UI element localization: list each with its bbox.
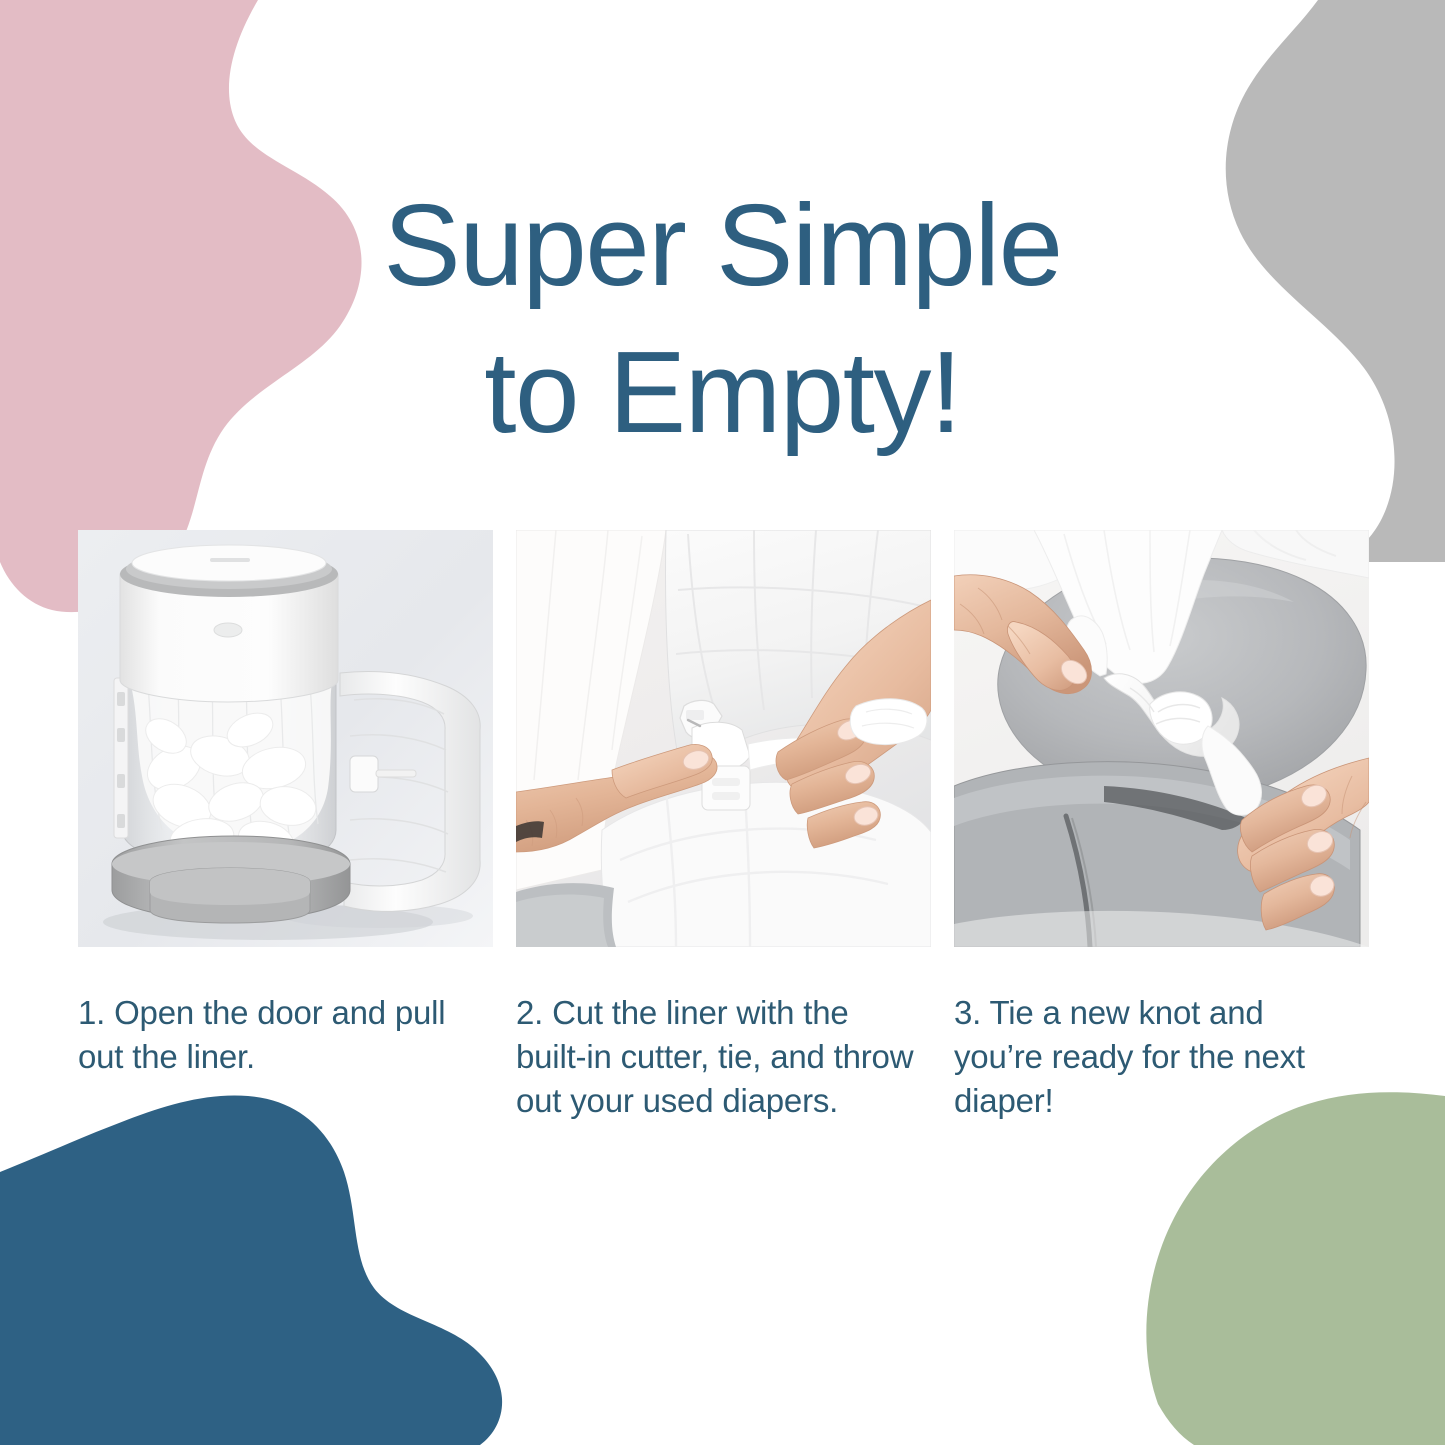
page-title-line-1: Super Simple [0, 172, 1445, 319]
step-1-caption: 1. Open the door and pull out the liner. [78, 991, 478, 1079]
blob-bottom-right-green-icon [1146, 1092, 1445, 1445]
step-1: 1. Open the door and pull out the liner. [78, 530, 493, 1123]
step-3: 3. Tie a new knot and you’re ready for t… [954, 530, 1369, 1123]
pail-button-icon [214, 623, 242, 637]
hands-tying-knot-illustration [954, 530, 1369, 947]
step-1-photo [78, 530, 493, 947]
step-2-photo [516, 530, 931, 947]
step-2-caption: 2. Cut the liner with the built-in cutte… [516, 991, 916, 1123]
step-3-caption: 3. Tie a new knot and you’re ready for t… [954, 991, 1354, 1123]
hinge-icon [114, 678, 128, 838]
brand-mark [210, 558, 250, 562]
steps-row: 1. Open the door and pull out the liner. [78, 530, 1370, 1123]
blob-bottom-left-navy-icon [0, 1095, 502, 1445]
page-title: Super Simple to Empty! [0, 172, 1445, 467]
step-2: 2. Cut the liner with the built-in cutte… [516, 530, 931, 1123]
infographic-canvas: Super Simple to Empty! [0, 0, 1445, 1445]
hands-cutting-liner-illustration [516, 530, 931, 947]
page-title-line-2: to Empty! [0, 319, 1445, 466]
step-3-photo [954, 530, 1369, 947]
diaper-pail-open-door-illustration [78, 530, 493, 947]
